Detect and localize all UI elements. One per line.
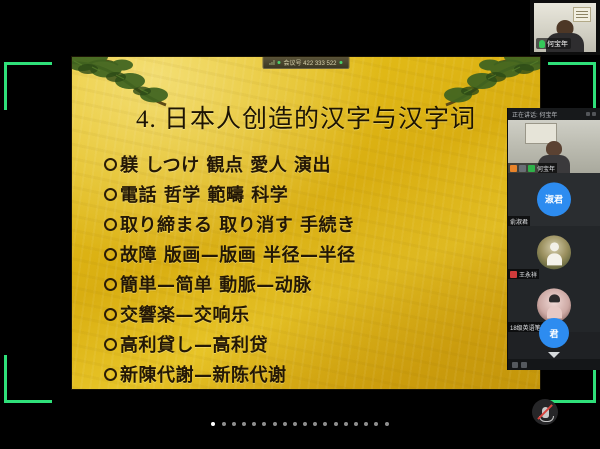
- participant-head: [546, 141, 562, 156]
- avatar: [537, 288, 571, 322]
- slide-bullet-text: 躾 しつけ 観点 愛人 演出: [120, 151, 331, 177]
- slide-bullet-item: 新陳代謝—新陈代谢: [104, 360, 526, 387]
- slide-bullet-text: 電話 哲学 範疇 科学: [120, 181, 288, 207]
- slide-bullet-text: 新陳代謝—新陈代谢: [120, 361, 287, 387]
- slide-pager[interactable]: [0, 422, 600, 426]
- pager-dot[interactable]: [242, 422, 246, 426]
- avatar-body: [547, 306, 562, 318]
- self-name: 何宝年: [547, 39, 568, 49]
- share-border-top-right-horizontal: [548, 62, 596, 65]
- slide-bullet-list: 躾 しつけ 観点 愛人 演出電話 哲学 範疇 科学取り締まる 取り消す 手続き故…: [104, 150, 526, 387]
- avatar-body: [547, 253, 562, 265]
- pager-dot[interactable]: [334, 422, 338, 426]
- pager-dot[interactable]: [283, 422, 287, 426]
- pager-dot[interactable]: [273, 422, 277, 426]
- share-border-bottom-left-vertical: [4, 355, 7, 403]
- slide-bullet-item: 電話 哲学 範疇 科学: [104, 180, 526, 207]
- share-border-top-left-vertical: [4, 62, 7, 110]
- background-certificate: [573, 7, 591, 22]
- slide-bullet-item: 簡単—简单 動脈—动脉: [104, 270, 526, 297]
- avatar-initials: 淑君: [545, 192, 563, 205]
- shared-slide: 会议号 422 333 522 4. 日本人创造的汉字与汉字词 躾 しつけ 観点…: [72, 57, 540, 389]
- share-border-top-right-vertical: [593, 62, 596, 110]
- self-avatar-initials: 君: [549, 327, 558, 340]
- bullet-marker-icon: [104, 308, 117, 321]
- green-dot-icon: [277, 61, 280, 64]
- share-border-bottom-left-horizontal: [4, 400, 52, 403]
- minimize-icon[interactable]: [586, 112, 590, 116]
- pager-dot[interactable]: [252, 422, 256, 426]
- pager-dot[interactable]: [211, 422, 215, 426]
- pager-dot[interactable]: [385, 422, 389, 426]
- avatar: 淑君: [537, 182, 571, 216]
- pager-dot[interactable]: [222, 422, 226, 426]
- avatar-head: [549, 294, 560, 302]
- slide-bullet-text: 高利貸し—高利贷: [120, 331, 268, 357]
- bullet-marker-icon: [104, 218, 117, 231]
- pager-dot[interactable]: [232, 422, 236, 426]
- mute-button[interactable]: [532, 399, 558, 425]
- slide-bullet-text: 簡単—简单 動脈—动脉: [120, 271, 312, 297]
- slide-bullet-text: 交響楽—交响乐: [120, 301, 250, 327]
- pager-dot[interactable]: [262, 422, 266, 426]
- share-border-bottom-right-horizontal: [548, 400, 596, 403]
- pager-dot[interactable]: [344, 422, 348, 426]
- bullet-marker-icon: [104, 338, 117, 351]
- slide-bullet-text: 取り締まる 取り消す 手続き: [120, 211, 356, 237]
- meeting-id-chip[interactable]: 会议号 422 333 522: [262, 57, 349, 69]
- participant-name: 何宝年: [537, 164, 555, 173]
- avatar-head: [550, 242, 559, 251]
- pager-dot[interactable]: [354, 422, 358, 426]
- bullet-marker-icon: [104, 278, 117, 291]
- avatar: [537, 235, 571, 269]
- signal-bars-icon: [269, 60, 274, 65]
- self-avatar-badge[interactable]: 君: [539, 318, 569, 348]
- pager-dot[interactable]: [364, 422, 368, 426]
- slide-bullet-item: 取り締まる 取り消す 手続き: [104, 210, 526, 237]
- slide-bullet-item: 故障 版画—版画 半径—半径: [104, 240, 526, 267]
- green-dot-icon: [340, 61, 343, 64]
- slide-title: 4. 日本人创造的汉字与汉字词: [72, 99, 540, 135]
- share-border-top-left-horizontal: [4, 62, 52, 65]
- slide-bullet-item: 交響楽—交响乐: [104, 300, 526, 327]
- self-name-bar: 何宝年: [536, 38, 571, 49]
- video-conference-screen: 会议号 422 333 522 4. 日本人创造的汉字与汉字词 躾 しつけ 観点…: [0, 0, 600, 449]
- bullet-marker-icon: [104, 248, 117, 261]
- meeting-id-label: 会议号 422 333 522: [283, 58, 336, 67]
- microphone-on-icon: [528, 165, 535, 172]
- expand-icon[interactable]: [592, 112, 596, 116]
- microphone-on-icon: [539, 40, 545, 48]
- slide-bullet-item: 躾 しつけ 観点 愛人 演出: [104, 150, 526, 177]
- bullet-marker-icon: [104, 188, 117, 201]
- pager-dot[interactable]: [374, 422, 378, 426]
- slide-bullet-text: 故障 版画—版画 半径—半径: [120, 241, 356, 267]
- pager-dot[interactable]: [323, 422, 327, 426]
- bullet-marker-icon: [104, 368, 117, 381]
- rail-window-controls[interactable]: [586, 112, 596, 116]
- pager-dot[interactable]: [293, 422, 297, 426]
- bullet-marker-icon: [104, 158, 117, 171]
- slide-bullet-item: 高利貸し—高利贷: [104, 330, 526, 357]
- chevron-down-icon[interactable]: [548, 352, 560, 358]
- pager-dot[interactable]: [303, 422, 307, 426]
- self-view-pip[interactable]: 何宝年: [530, 0, 600, 55]
- pager-dot[interactable]: [313, 422, 317, 426]
